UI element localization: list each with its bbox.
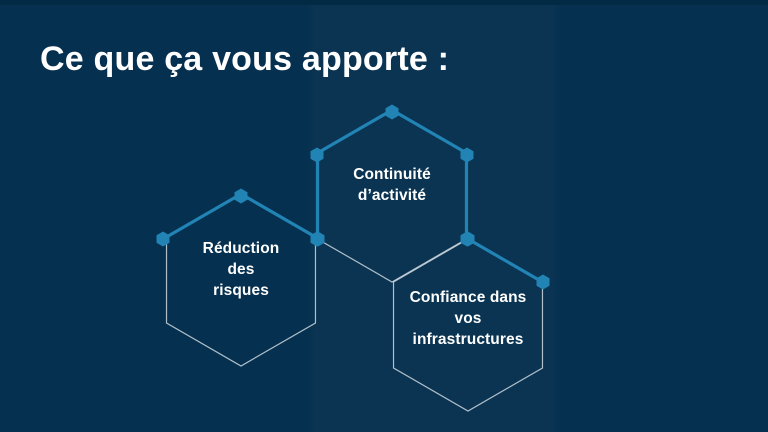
- hexagon-accent-edge: [241, 194, 315, 237]
- vertex-marker-hex2-top: [386, 105, 399, 120]
- hexagon-diagram: [0, 0, 768, 432]
- hexagon-label-confiance-dans-vos-infrastructures: Confiance dans vos infrastructures: [381, 287, 555, 350]
- hexagon-accent-edge: [167, 194, 241, 237]
- vertex-marker-hex1-top: [235, 189, 248, 204]
- hexagon-label-continuite-d-activite: Continuité d’activité: [316, 164, 468, 206]
- slide-canvas: Ce que ça vous apporte : Réduction des r…: [0, 0, 768, 432]
- hexagon-accent-edge: [318, 110, 392, 153]
- hexagon-accent-edge: [468, 239, 542, 282]
- hexagon-accent-edge: [392, 110, 466, 153]
- hexagon-label-reduction-des-risques: Réduction des risques: [161, 238, 321, 301]
